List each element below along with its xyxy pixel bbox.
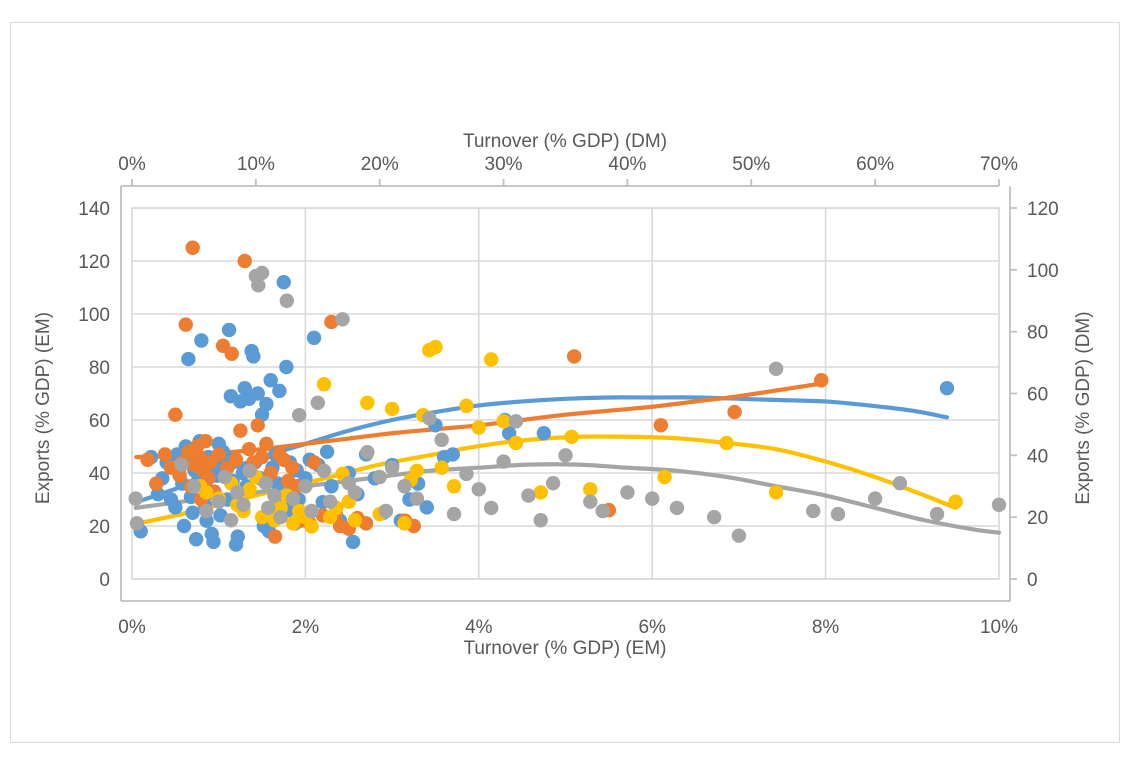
data-point — [831, 507, 845, 521]
data-point — [484, 352, 498, 366]
data-point — [360, 396, 374, 410]
left-axis-tick-label: 120 — [78, 252, 110, 273]
data-point — [385, 461, 399, 475]
data-point — [657, 470, 671, 484]
data-point — [238, 254, 252, 268]
scatter-chart: Turnover (% GDP) (DM) Turnover (% GDP) (… — [11, 23, 1119, 742]
data-point — [317, 377, 331, 391]
data-point — [267, 488, 281, 502]
data-point — [236, 498, 250, 512]
data-point — [447, 479, 461, 493]
data-point — [769, 485, 783, 499]
data-point — [583, 495, 597, 509]
data-point — [259, 437, 273, 451]
data-point — [509, 414, 523, 428]
data-point — [472, 482, 486, 496]
left-axis-tick-label: 100 — [78, 305, 110, 326]
data-point — [206, 535, 220, 549]
data-point — [323, 495, 337, 509]
data-point — [428, 340, 442, 354]
data-point — [198, 434, 212, 448]
right-axis-tick-labels: 020406080100120 — [1027, 199, 1059, 591]
data-point — [434, 461, 448, 475]
data-point — [286, 491, 300, 505]
data-point — [814, 373, 828, 387]
data-points-layer — [129, 241, 1007, 552]
top-axis-tick-label: 10% — [237, 154, 275, 175]
data-point — [140, 453, 154, 467]
data-point — [992, 498, 1006, 512]
data-point — [199, 504, 213, 518]
left-axis-tick-label: 40 — [89, 464, 110, 485]
data-point — [298, 479, 312, 493]
data-point — [307, 331, 321, 345]
right-axis-title: Exports (% GDP) (DM) — [1073, 311, 1094, 504]
data-point — [324, 479, 338, 493]
data-point — [189, 532, 203, 546]
data-point — [177, 519, 191, 533]
data-point — [158, 447, 172, 461]
bottom-axis-tick-label: 10% — [980, 617, 1018, 638]
data-point — [397, 516, 411, 530]
data-point — [521, 488, 535, 502]
data-point — [397, 479, 411, 493]
data-point — [255, 450, 269, 464]
data-point — [280, 294, 294, 308]
data-point — [348, 513, 362, 527]
right-axis-tick-label: 100 — [1027, 261, 1059, 282]
data-point — [225, 347, 239, 361]
data-point — [534, 513, 548, 527]
data-point — [422, 411, 436, 425]
data-point — [304, 519, 318, 533]
series-series1 — [133, 275, 954, 552]
data-point — [181, 352, 195, 366]
top-axis-tick-label: 70% — [980, 154, 1018, 175]
data-point — [727, 405, 741, 419]
data-point — [373, 470, 387, 484]
data-point — [286, 516, 300, 530]
right-axis-tick-label: 60 — [1027, 385, 1048, 406]
right-axis-tick-label: 80 — [1027, 323, 1048, 344]
data-point — [242, 442, 256, 456]
data-point — [719, 436, 733, 450]
data-point — [230, 485, 244, 499]
data-point — [410, 464, 424, 478]
data-point — [564, 430, 578, 444]
data-point — [948, 495, 962, 509]
data-point — [285, 461, 299, 475]
left-axis-tick-label: 60 — [89, 411, 110, 432]
data-point — [229, 453, 243, 467]
data-point — [459, 399, 473, 413]
data-point — [174, 457, 188, 471]
data-point — [446, 447, 460, 461]
top-axis-tick-label: 60% — [856, 154, 894, 175]
data-point — [129, 491, 143, 505]
data-point — [218, 470, 232, 484]
right-axis-tick-label: 40 — [1027, 446, 1048, 467]
top-axis-tick-label: 20% — [361, 154, 399, 175]
left-axis-title: Exports (% GDP) (EM) — [33, 312, 54, 504]
data-point — [537, 426, 551, 440]
data-point — [379, 504, 393, 518]
data-point — [496, 454, 510, 468]
data-point — [320, 445, 334, 459]
data-point — [654, 418, 668, 432]
bottom-axis-tick-label: 6% — [638, 617, 666, 638]
data-point — [434, 433, 448, 447]
top-axis-tick-label: 0% — [118, 154, 146, 175]
left-axis-tick-label: 80 — [89, 358, 110, 379]
data-point — [620, 485, 634, 499]
bottom-axis-title: Turnover (% GDP) (EM) — [463, 638, 666, 659]
data-point — [732, 529, 746, 543]
data-point — [259, 476, 273, 490]
data-point — [893, 476, 907, 490]
data-point — [311, 396, 325, 410]
data-point — [259, 397, 273, 411]
data-point — [199, 485, 213, 499]
data-point — [279, 360, 293, 374]
data-point — [251, 278, 265, 292]
data-point — [496, 414, 510, 428]
data-point — [194, 333, 208, 347]
right-axis-tick-label: 20 — [1027, 508, 1048, 529]
data-point — [447, 507, 461, 521]
top-axis-tick-label: 40% — [608, 154, 646, 175]
data-point — [268, 529, 282, 543]
data-point — [233, 423, 247, 437]
chart-container: Turnover (% GDP) (DM) Turnover (% GDP) (… — [10, 22, 1120, 743]
data-point — [410, 491, 424, 505]
data-point — [246, 349, 260, 363]
left-axis-tick-label: 0 — [99, 570, 110, 591]
right-axis-tick-label: 120 — [1027, 199, 1059, 220]
data-point — [534, 485, 548, 499]
left-axis-tick-label: 20 — [89, 517, 110, 538]
data-point — [472, 420, 486, 434]
data-point — [251, 418, 265, 432]
top-axis-tick-labels: 0%10%20%30%40%50%60%70% — [118, 154, 1018, 175]
data-point — [304, 504, 318, 518]
data-point — [868, 491, 882, 505]
data-point — [360, 445, 374, 459]
top-axis-tick-label: 30% — [485, 154, 523, 175]
data-point — [168, 408, 182, 422]
data-point — [149, 476, 163, 490]
left-axis-tick-labels: 020406080100120140 — [78, 199, 110, 591]
data-point — [185, 506, 199, 520]
data-point — [187, 479, 201, 493]
data-point — [509, 436, 523, 450]
top-axis-tick-label: 50% — [732, 154, 770, 175]
data-point — [242, 482, 256, 496]
data-point — [212, 495, 226, 509]
data-point — [255, 266, 269, 280]
data-point — [583, 482, 597, 496]
data-point — [459, 467, 473, 481]
data-point — [930, 507, 944, 521]
data-point — [242, 464, 256, 478]
data-point — [179, 317, 193, 331]
bottom-axis-tick-label: 8% — [812, 617, 840, 638]
data-point — [185, 241, 199, 255]
data-point — [273, 510, 287, 524]
data-point — [335, 312, 349, 326]
data-point — [940, 381, 954, 395]
data-point — [222, 323, 236, 337]
bottom-axis-tick-labels: 0%2%4%6%8%10% — [118, 617, 1018, 638]
data-point — [224, 513, 238, 527]
data-point — [346, 535, 360, 549]
data-point — [546, 476, 560, 490]
left-axis-tick-label: 140 — [78, 199, 110, 220]
data-point — [769, 362, 783, 376]
data-point — [292, 408, 306, 422]
data-point — [806, 504, 820, 518]
right-axis-tick-label: 0 — [1027, 570, 1038, 591]
data-point — [277, 275, 291, 289]
data-point — [595, 504, 609, 518]
data-point — [567, 349, 581, 363]
bottom-axis-tick-label: 2% — [292, 617, 320, 638]
data-point — [272, 384, 286, 398]
data-point — [670, 501, 684, 515]
data-point — [168, 500, 182, 514]
data-point — [231, 529, 245, 543]
data-point — [385, 402, 399, 416]
data-point — [130, 516, 144, 530]
data-point — [212, 447, 226, 461]
data-point — [348, 485, 362, 499]
data-point — [484, 501, 498, 515]
bottom-axis-tick-label: 4% — [465, 617, 493, 638]
data-point — [261, 501, 275, 515]
data-point — [558, 448, 572, 462]
data-point — [645, 491, 659, 505]
top-axis-title: Turnover (% GDP) (DM) — [463, 131, 667, 152]
bottom-axis-tick-label: 0% — [118, 617, 146, 638]
data-point — [707, 510, 721, 524]
data-point — [317, 464, 331, 478]
